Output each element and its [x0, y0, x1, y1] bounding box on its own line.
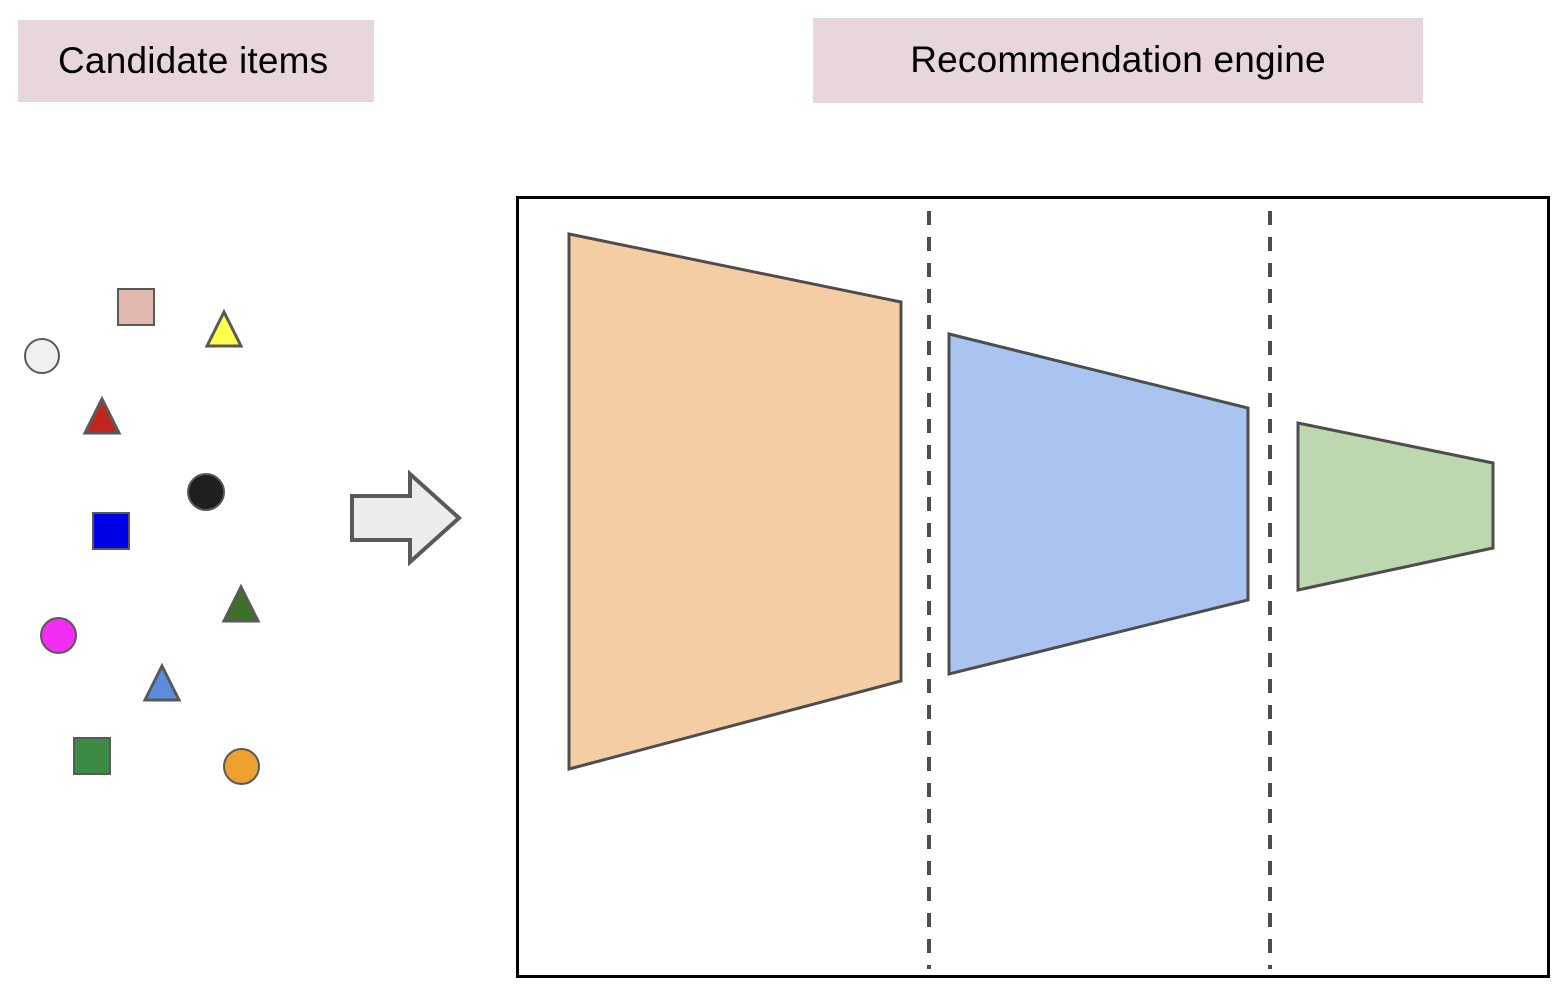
- dark-green-triangle-shape: [224, 587, 258, 621]
- candidate-items-banner: Candidate items: [18, 20, 374, 102]
- funnel-stage-ranking: [949, 334, 1248, 674]
- diagram-canvas: Candidate items Recommendation engine Re…: [0, 0, 1568, 1000]
- recommendation-engine-banner-label: Recommendation engine: [910, 40, 1326, 81]
- green-square: [73, 737, 111, 775]
- cornflower-triangle-shape: [145, 666, 179, 700]
- candidate-items-banner-label: Candidate items: [58, 41, 328, 82]
- funnel-svg: [519, 199, 1553, 981]
- red-triangle: [83, 397, 121, 435]
- flow-arrow-icon: [348, 470, 463, 566]
- red-triangle-shape: [85, 399, 119, 433]
- yellow-triangle-shape: [207, 312, 241, 346]
- white-circle: [24, 338, 60, 374]
- funnel-stage-retrieval: [569, 234, 901, 769]
- recommendation-engine-panel: Retrieval: O(tens of millions) to O(thou…: [516, 196, 1550, 978]
- magenta-circle: [40, 617, 77, 654]
- yellow-triangle: [205, 310, 243, 348]
- orange-circle: [223, 748, 260, 785]
- recommendation-engine-banner: Recommendation engine: [813, 18, 1423, 103]
- funnel-stage-post-ranking: [1298, 423, 1493, 590]
- pink-square: [117, 288, 155, 326]
- arrow-shape: [352, 474, 459, 562]
- dark-green-triangle: [222, 585, 260, 623]
- black-circle: [187, 473, 225, 511]
- cornflower-triangle: [143, 664, 181, 702]
- blue-square: [92, 512, 130, 550]
- flow-arrow-svg: [348, 470, 463, 566]
